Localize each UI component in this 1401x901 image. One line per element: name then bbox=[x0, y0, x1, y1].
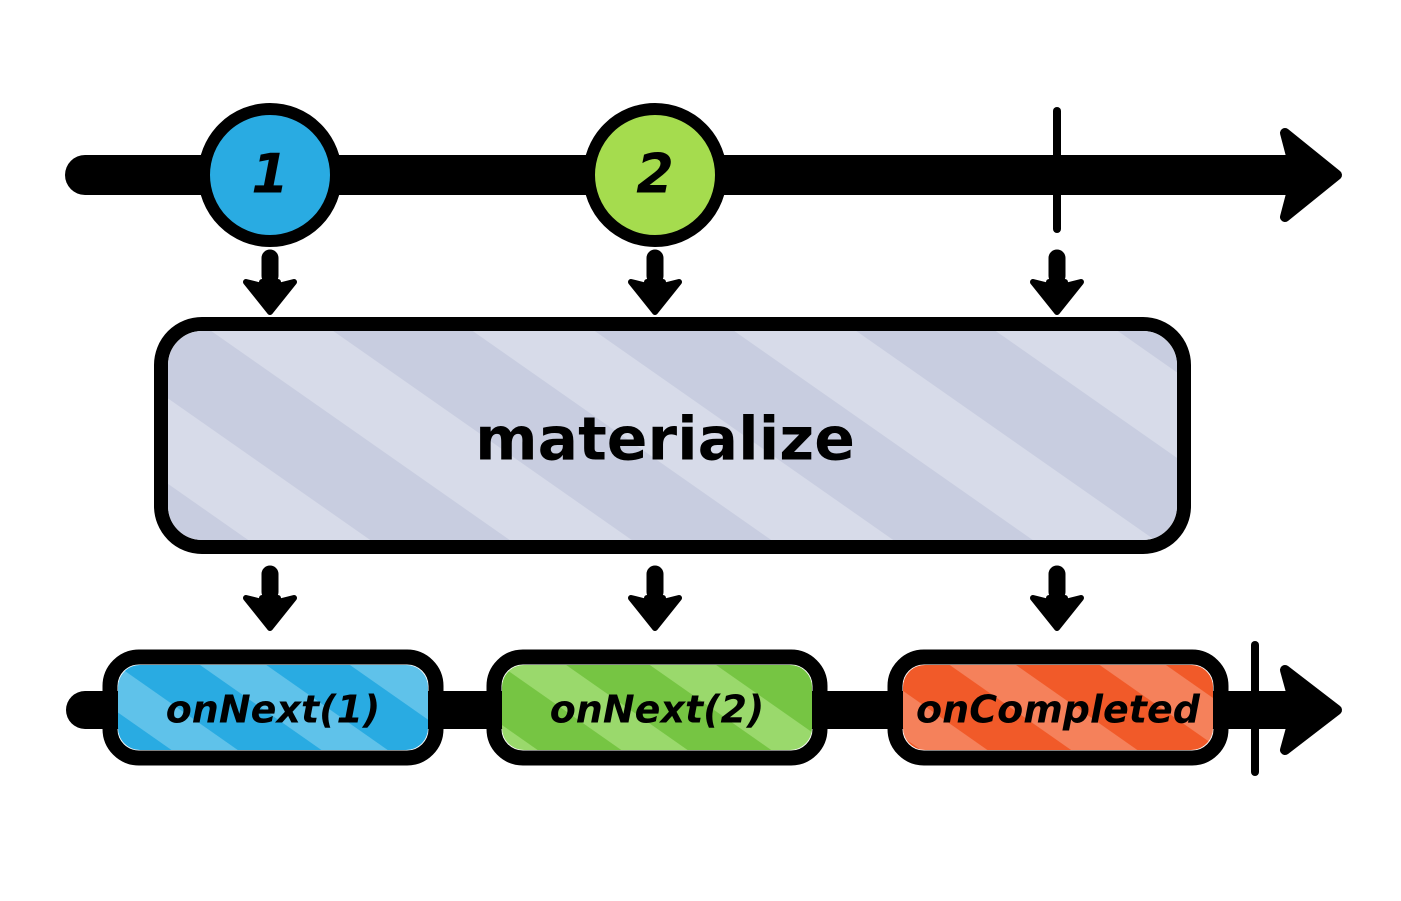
notification-pill-onnext-1[interactable]: onNext(1) bbox=[110, 657, 436, 758]
arrowhead-icon bbox=[246, 282, 294, 312]
source-marble-2[interactable]: 2 bbox=[589, 109, 721, 241]
arrowhead-icon bbox=[1033, 598, 1081, 628]
notification-pill-onnext-2[interactable]: onNext(2) bbox=[494, 657, 820, 758]
arrowhead-icon bbox=[1033, 282, 1081, 312]
marble-label: 2 bbox=[636, 143, 674, 206]
operator-box[interactable]: materialize bbox=[161, 324, 1184, 547]
input-connector-arrows bbox=[246, 258, 1081, 312]
output-connector-arrows bbox=[246, 574, 1081, 628]
pill-label: onNext(2) bbox=[550, 688, 765, 732]
arrowhead-icon bbox=[631, 598, 679, 628]
output-arrow-3 bbox=[1033, 574, 1081, 628]
output-arrow-2 bbox=[631, 574, 679, 628]
source-timeline-arrow-icon bbox=[1285, 133, 1337, 217]
input-arrow-1 bbox=[246, 258, 294, 312]
output-arrow-1 bbox=[246, 574, 294, 628]
arrowhead-icon bbox=[246, 598, 294, 628]
pill-label: onCompleted bbox=[916, 688, 1201, 732]
notification-pill-oncompleted[interactable]: onCompleted bbox=[895, 657, 1221, 758]
input-arrow-complete bbox=[1033, 258, 1081, 312]
input-arrow-2 bbox=[631, 258, 679, 312]
marble-diagram-canvas: 1 2 mat bbox=[0, 0, 1401, 901]
source-marble-1[interactable]: 1 bbox=[204, 109, 336, 241]
arrowhead-icon bbox=[631, 282, 679, 312]
pill-label: onNext(1) bbox=[166, 688, 381, 732]
marble-diagram-svg: 1 2 mat bbox=[0, 0, 1401, 901]
output-timeline-arrow-icon bbox=[1285, 670, 1337, 750]
operator-name-label: materialize bbox=[475, 405, 855, 475]
marble-label: 1 bbox=[251, 143, 289, 206]
